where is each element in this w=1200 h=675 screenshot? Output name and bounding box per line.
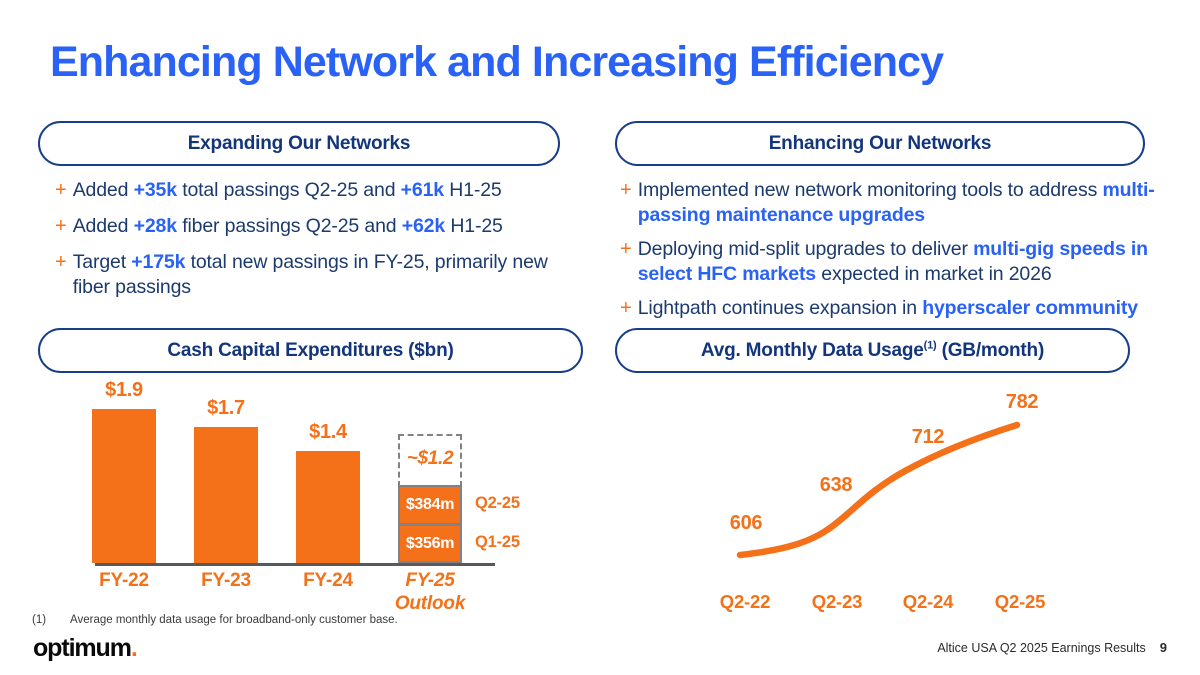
footnote: (1) Average monthly data usage for broad…	[32, 614, 398, 626]
list-item: + Added +28k fiber passings Q2-25 and +6…	[55, 214, 575, 239]
bar-chart-cash-capital-expenditures: $1.9 FY-22 $1.7 FY-23 $1.4 FY-24 ~$1.2 $…	[38, 385, 598, 620]
chart-header-label: Cash Capital Expenditures ($bn)	[167, 340, 453, 362]
list-item-text: Target +175k total new passings in FY-25…	[73, 250, 575, 300]
bar-value-label: $1.7	[176, 397, 276, 420]
list-item-text: Added +28k fiber passings Q2-25 and +62k…	[73, 214, 503, 239]
plus-icon: +	[55, 250, 67, 274]
bar-segment-legend-q2-25: Q2-25	[475, 494, 520, 513]
list-item: + Implemented new network monitoring too…	[620, 178, 1165, 228]
slide-canvas: Enhancing Network and Increasing Efficie…	[0, 0, 1200, 675]
list-item-text: Lightpath continues expansion in hypersc…	[638, 296, 1138, 321]
line-category-label: Q2-25	[965, 591, 1075, 613]
bar-value-label: $1.4	[278, 421, 378, 444]
bar-category-label-outlook: FY-25 Outlook	[370, 569, 490, 615]
footnote-marker: (1)	[32, 614, 70, 626]
plus-icon: +	[55, 178, 67, 202]
bar-fy-23	[194, 427, 258, 563]
list-item: + Target +175k total new passings in FY-…	[55, 250, 575, 300]
line-value-label: 782	[977, 391, 1067, 414]
bar-segment-label: $384m	[406, 496, 454, 514]
bar-segment-q1-25: $356m	[398, 524, 462, 563]
panel-header-enhancing-our-networks: Enhancing Our Networks	[615, 121, 1145, 166]
chart-header-avg-monthly-data-usage: Avg. Monthly Data Usage(1) (GB/month)	[615, 328, 1130, 373]
footer-meta: Altice USA Q2 2025 Earnings Results 9	[937, 640, 1167, 655]
bullet-list-expanding: + Added +35k total passings Q2-25 and +6…	[55, 178, 575, 311]
bar-segment-q2-25: $384m	[398, 485, 462, 525]
logo-dot: .	[131, 634, 137, 662]
footnote-ref: (1)	[924, 339, 937, 351]
line-value-label: 712	[883, 426, 973, 449]
list-item-text: Deploying mid-split upgrades to deliver …	[638, 237, 1165, 287]
plus-icon: +	[620, 237, 632, 261]
footnote-text: Average monthly data usage for broadband…	[70, 614, 398, 626]
list-item: + Lightpath continues expansion in hyper…	[620, 296, 1165, 321]
logo-wordmark: optimum	[33, 634, 131, 662]
page-number: 9	[1160, 640, 1167, 655]
chart-header-label: Avg. Monthly Data Usage(1) (GB/month)	[701, 340, 1044, 362]
plus-icon: +	[55, 214, 67, 238]
line-chart-avg-monthly-data-usage: 606 638 712 782 Q2-22 Q2-23 Q2-24 Q2-25	[615, 385, 1175, 620]
bar-segment-legend-q1-25: Q1-25	[475, 533, 520, 552]
list-item-text: Added +35k total passings Q2-25 and +61k…	[73, 178, 502, 203]
panel-header-expanding-our-networks: Expanding Our Networks	[38, 121, 560, 166]
plus-icon: +	[620, 178, 632, 202]
chart-baseline-axis	[95, 563, 495, 566]
plus-icon: +	[620, 296, 632, 320]
list-item-text: Implemented new network monitoring tools…	[638, 178, 1165, 228]
panel-header-label: Expanding Our Networks	[188, 133, 411, 155]
chart-header-cash-capital-expenditures: Cash Capital Expenditures ($bn)	[38, 328, 583, 373]
panel-header-label: Enhancing Our Networks	[769, 133, 992, 155]
bar-segment-label: $356m	[406, 535, 454, 553]
bar-fy-24	[296, 451, 360, 563]
list-item: + Added +35k total passings Q2-25 and +6…	[55, 178, 575, 203]
list-item: + Deploying mid-split upgrades to delive…	[620, 237, 1165, 287]
line-chart-svg	[615, 385, 1175, 620]
bar-outlook-projection-ghost	[398, 434, 462, 487]
line-value-label: 606	[701, 512, 791, 535]
chart-header-main: Avg. Monthly Data Usage	[701, 340, 924, 361]
bar-fy-22	[92, 409, 156, 563]
chart-header-units: (GB/month)	[937, 340, 1045, 361]
bullet-list-enhancing: + Implemented new network monitoring too…	[620, 178, 1165, 330]
line-value-label: 638	[791, 474, 881, 497]
page-title: Enhancing Network and Increasing Efficie…	[50, 38, 943, 87]
optimum-logo: optimum.	[33, 634, 137, 663]
footer-source: Altice USA Q2 2025 Earnings Results	[937, 641, 1145, 655]
bar-value-label: $1.9	[74, 379, 174, 402]
